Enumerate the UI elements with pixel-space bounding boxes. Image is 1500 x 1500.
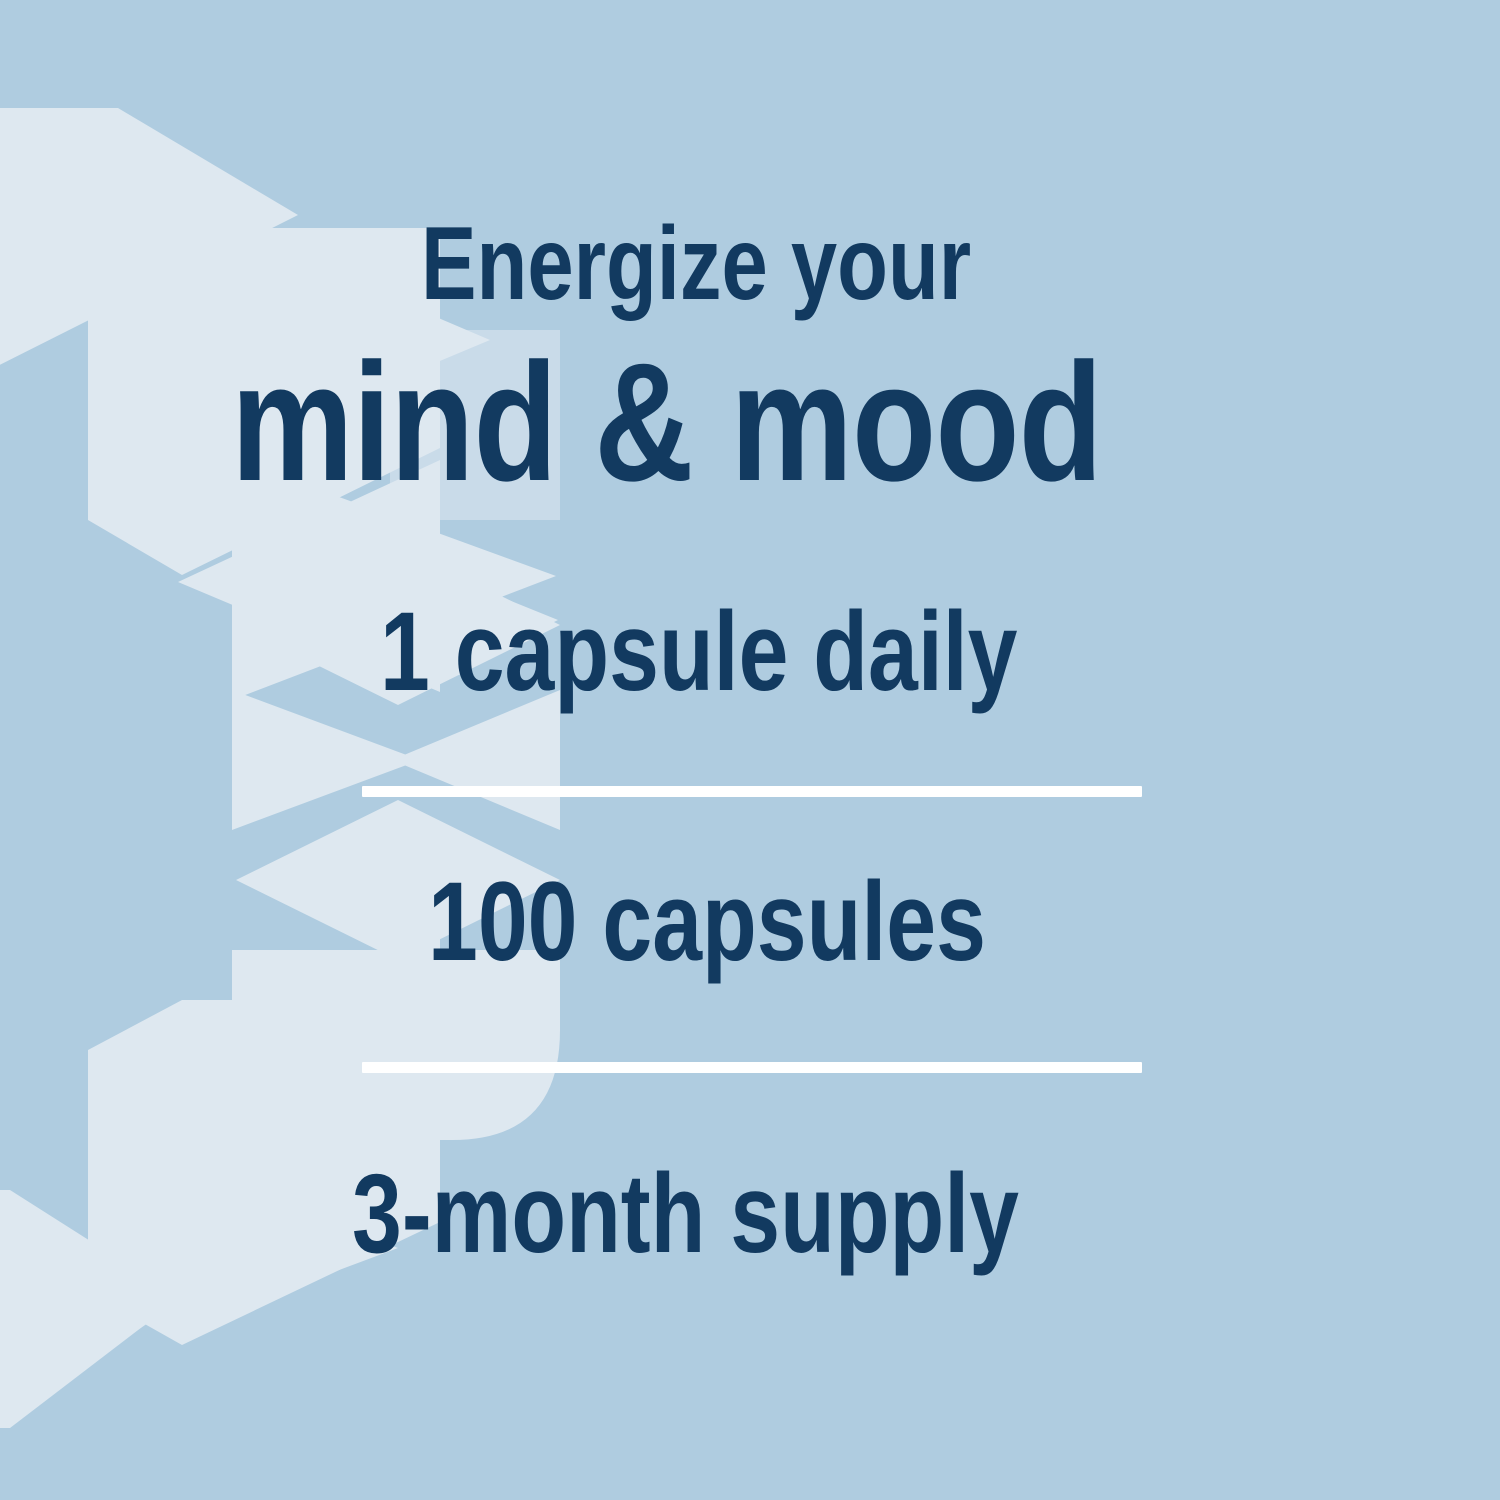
divider-rule-1: [362, 786, 1142, 797]
fact-capsule-count: 100 capsules: [428, 866, 986, 978]
headline-main: mind & mood: [231, 338, 1102, 506]
divider-rule-2: [362, 1062, 1142, 1073]
fact-dosage: 1 capsule daily: [380, 596, 1017, 708]
content-layer: Energize your mind & mood 1 capsule dail…: [0, 0, 1500, 1500]
headline-eyebrow: Energize your: [421, 212, 971, 316]
product-infographic-canvas: Energize your mind & mood 1 capsule dail…: [0, 0, 1500, 1500]
fact-supply-duration: 3-month supply: [352, 1158, 1019, 1270]
